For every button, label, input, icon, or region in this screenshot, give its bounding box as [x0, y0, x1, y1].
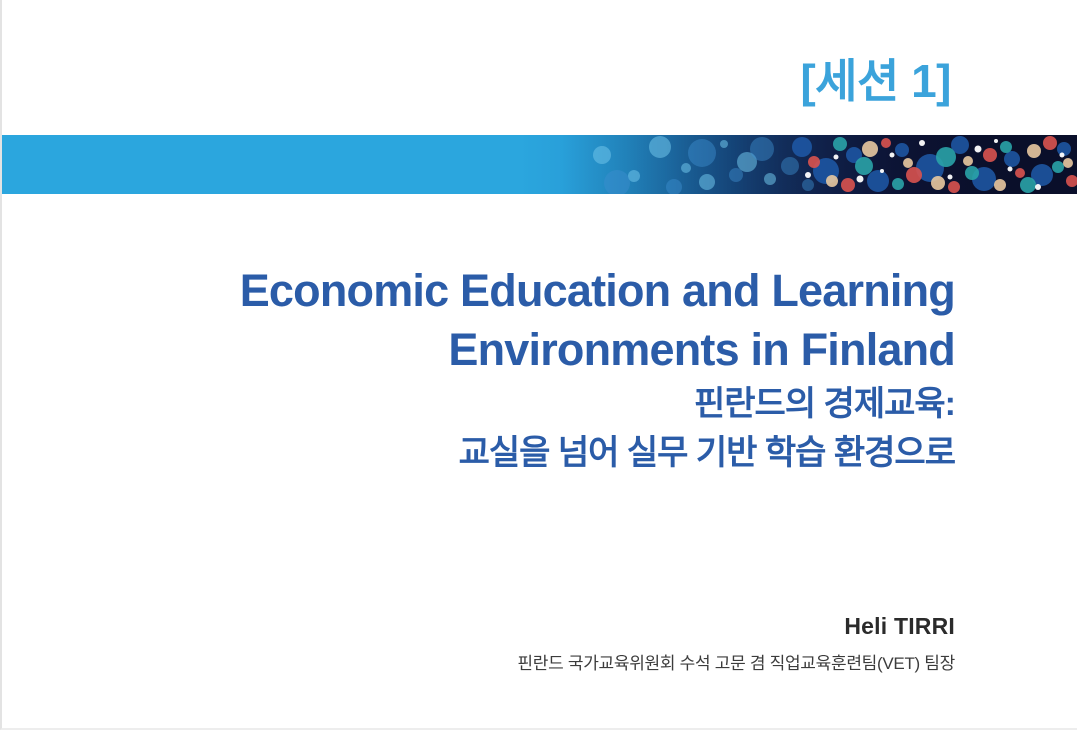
session-label: [세션 1]: [800, 58, 951, 104]
bokeh-circles-graphic: [2, 135, 1077, 194]
title-english-line-2: Environments in Finland: [2, 321, 955, 380]
title-korean-line-2: 교실을 넘어 실무 기반 학습 환경으로: [2, 430, 955, 477]
title-korean-line-1: 핀란드의 경제교육:: [2, 381, 955, 428]
decorative-bokeh-banner: [2, 135, 1077, 194]
presentation-title-slide: [세션 1]: [0, 0, 1077, 730]
title-english-line-1: Economic Education and Learning: [2, 262, 955, 321]
speaker-name: Heli TIRRI: [2, 612, 955, 641]
speaker-block: Heli TIRRI 핀란드 국가교육위원회 수석 고문 겸 직업교육훈련팀(V…: [2, 612, 955, 675]
session-eyebrow: [세션 1]: [2, 58, 951, 104]
speaker-role: 핀란드 국가교육위원회 수석 고문 겸 직업교육훈련팀(VET) 팀장: [2, 653, 955, 675]
slide-title-block: Economic Education and Learning Environm…: [2, 262, 955, 477]
